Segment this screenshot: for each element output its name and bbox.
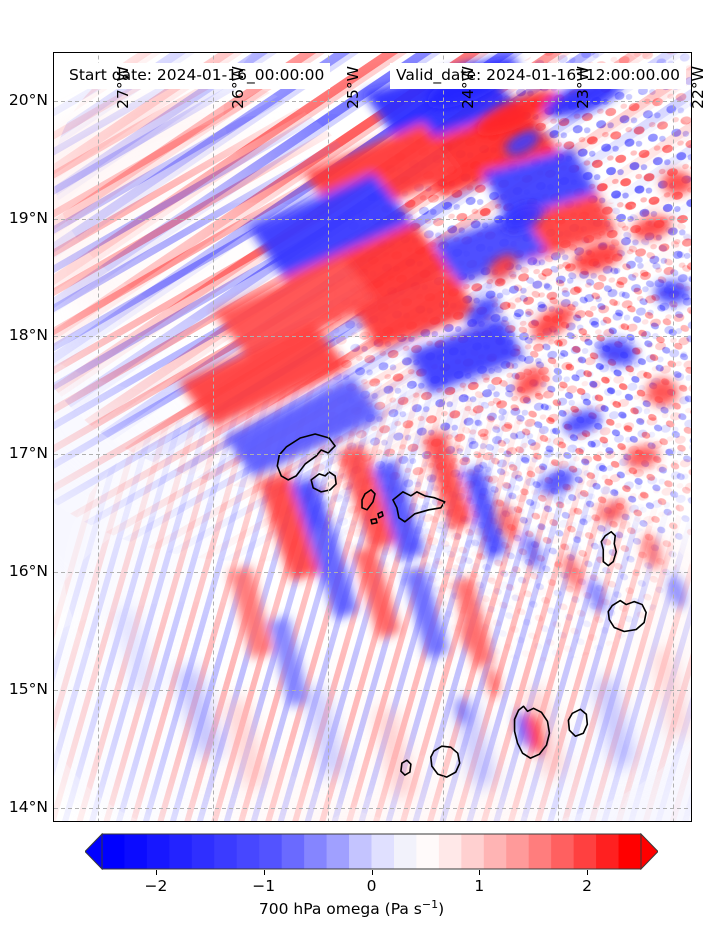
colorbar-title-main: 700 hPa omega (Pa s <box>259 900 422 918</box>
gridline-lat-18 <box>54 336 691 337</box>
colorbar-band <box>372 834 395 869</box>
colorbar-band <box>304 834 327 869</box>
colorbar-band <box>124 834 147 869</box>
xtick-label-23W: 23°W <box>574 66 592 109</box>
colorbar-band <box>169 834 192 869</box>
gridline-lon-24 <box>443 53 444 821</box>
gridline-lat-19 <box>54 219 691 220</box>
xtick-label-27W: 27°W <box>114 66 132 109</box>
colorbar-band <box>574 834 597 869</box>
map-axes[interactable]: Start date: 2024-01-16_00:00:00 Valid_da… <box>53 52 692 822</box>
valid-date-annotation: Valid_date: 2024-01-16T12:00:00.00 <box>390 63 686 89</box>
colorbar-band <box>214 834 237 869</box>
colorbar-band <box>529 834 552 869</box>
ytick-label-17N: 17°N <box>0 444 48 462</box>
colorbar-band <box>484 834 507 869</box>
colorbar-band <box>327 834 350 869</box>
ytick-label-16N: 16°N <box>0 562 48 580</box>
gridline-lon-25 <box>328 53 329 821</box>
colorbar-title-tail: ) <box>438 900 444 918</box>
start-date-annotation: Start date: 2024-01-16_00:00:00 <box>63 63 330 89</box>
ytick-label-19N: 19°N <box>0 209 48 227</box>
colorbar-band <box>282 834 305 869</box>
xtick-label-26W: 26°W <box>229 66 247 109</box>
colorbar-band <box>102 834 125 869</box>
ytick-label-14N: 14°N <box>0 798 48 816</box>
xtick-label-22W: 22°W <box>689 66 703 109</box>
gridline-lon-27 <box>98 53 99 821</box>
gridline-lon-22 <box>673 53 674 821</box>
gridline-lat-20 <box>54 101 691 102</box>
colorbar-band <box>416 834 439 869</box>
colorbar-tick-mark <box>156 870 157 875</box>
colorbar-band <box>596 834 619 869</box>
omega-field-heatmap <box>54 53 691 821</box>
ytick-label-15N: 15°N <box>0 680 48 698</box>
gridline-lon-23 <box>558 53 559 821</box>
colorbar-svg <box>85 833 658 870</box>
ytick-label-18N: 18°N <box>0 326 48 344</box>
annotation-band: Start date: 2024-01-16_00:00:00 Valid_da… <box>55 63 690 90</box>
colorbar-tick-label: −1 <box>252 877 275 895</box>
colorbar-tick-label: 0 <box>367 877 377 895</box>
colorbar-tick-mark <box>479 870 480 875</box>
colorbar-title-exponent: −1 <box>422 898 438 911</box>
colorbar-tick-mark <box>264 870 265 875</box>
colorbar-band <box>192 834 215 869</box>
colorbar-band <box>619 834 642 869</box>
ytick-label-20N: 20°N <box>0 91 48 109</box>
colorbar-band <box>259 834 282 869</box>
xtick-label-24W: 24°W <box>459 66 477 109</box>
figure-canvas: Start date: 2024-01-16_00:00:00 Valid_da… <box>0 0 703 936</box>
gridline-lon-26 <box>213 53 214 821</box>
colorbar-band <box>506 834 529 869</box>
colorbar[interactable] <box>85 833 658 870</box>
colorbar-band <box>349 834 372 869</box>
colorbar-band <box>551 834 574 869</box>
colorbar-region[interactable]: −2−1012 700 hPa omega (Pa s−1) <box>0 830 703 936</box>
colorbar-band <box>461 834 484 869</box>
omega-field-svg <box>54 53 691 821</box>
gridline-lat-15 <box>54 690 691 691</box>
colorbar-title: 700 hPa omega (Pa s−1) <box>0 898 703 918</box>
colorbar-band <box>237 834 260 869</box>
colorbar-band <box>394 834 417 869</box>
gridline-lat-14 <box>54 808 691 809</box>
colorbar-tick-label: −2 <box>144 877 167 895</box>
colorbar-band <box>439 834 462 869</box>
colorbar-band <box>147 834 170 869</box>
colorbar-tick-mark <box>372 870 373 875</box>
gridline-lat-16 <box>54 572 691 573</box>
colorbar-tick-label: 1 <box>474 877 484 895</box>
colorbar-tick-mark <box>587 870 588 875</box>
colorbar-tick-label: 2 <box>582 877 592 895</box>
gridline-lat-17 <box>54 454 691 455</box>
xtick-label-25W: 25°W <box>344 66 362 109</box>
